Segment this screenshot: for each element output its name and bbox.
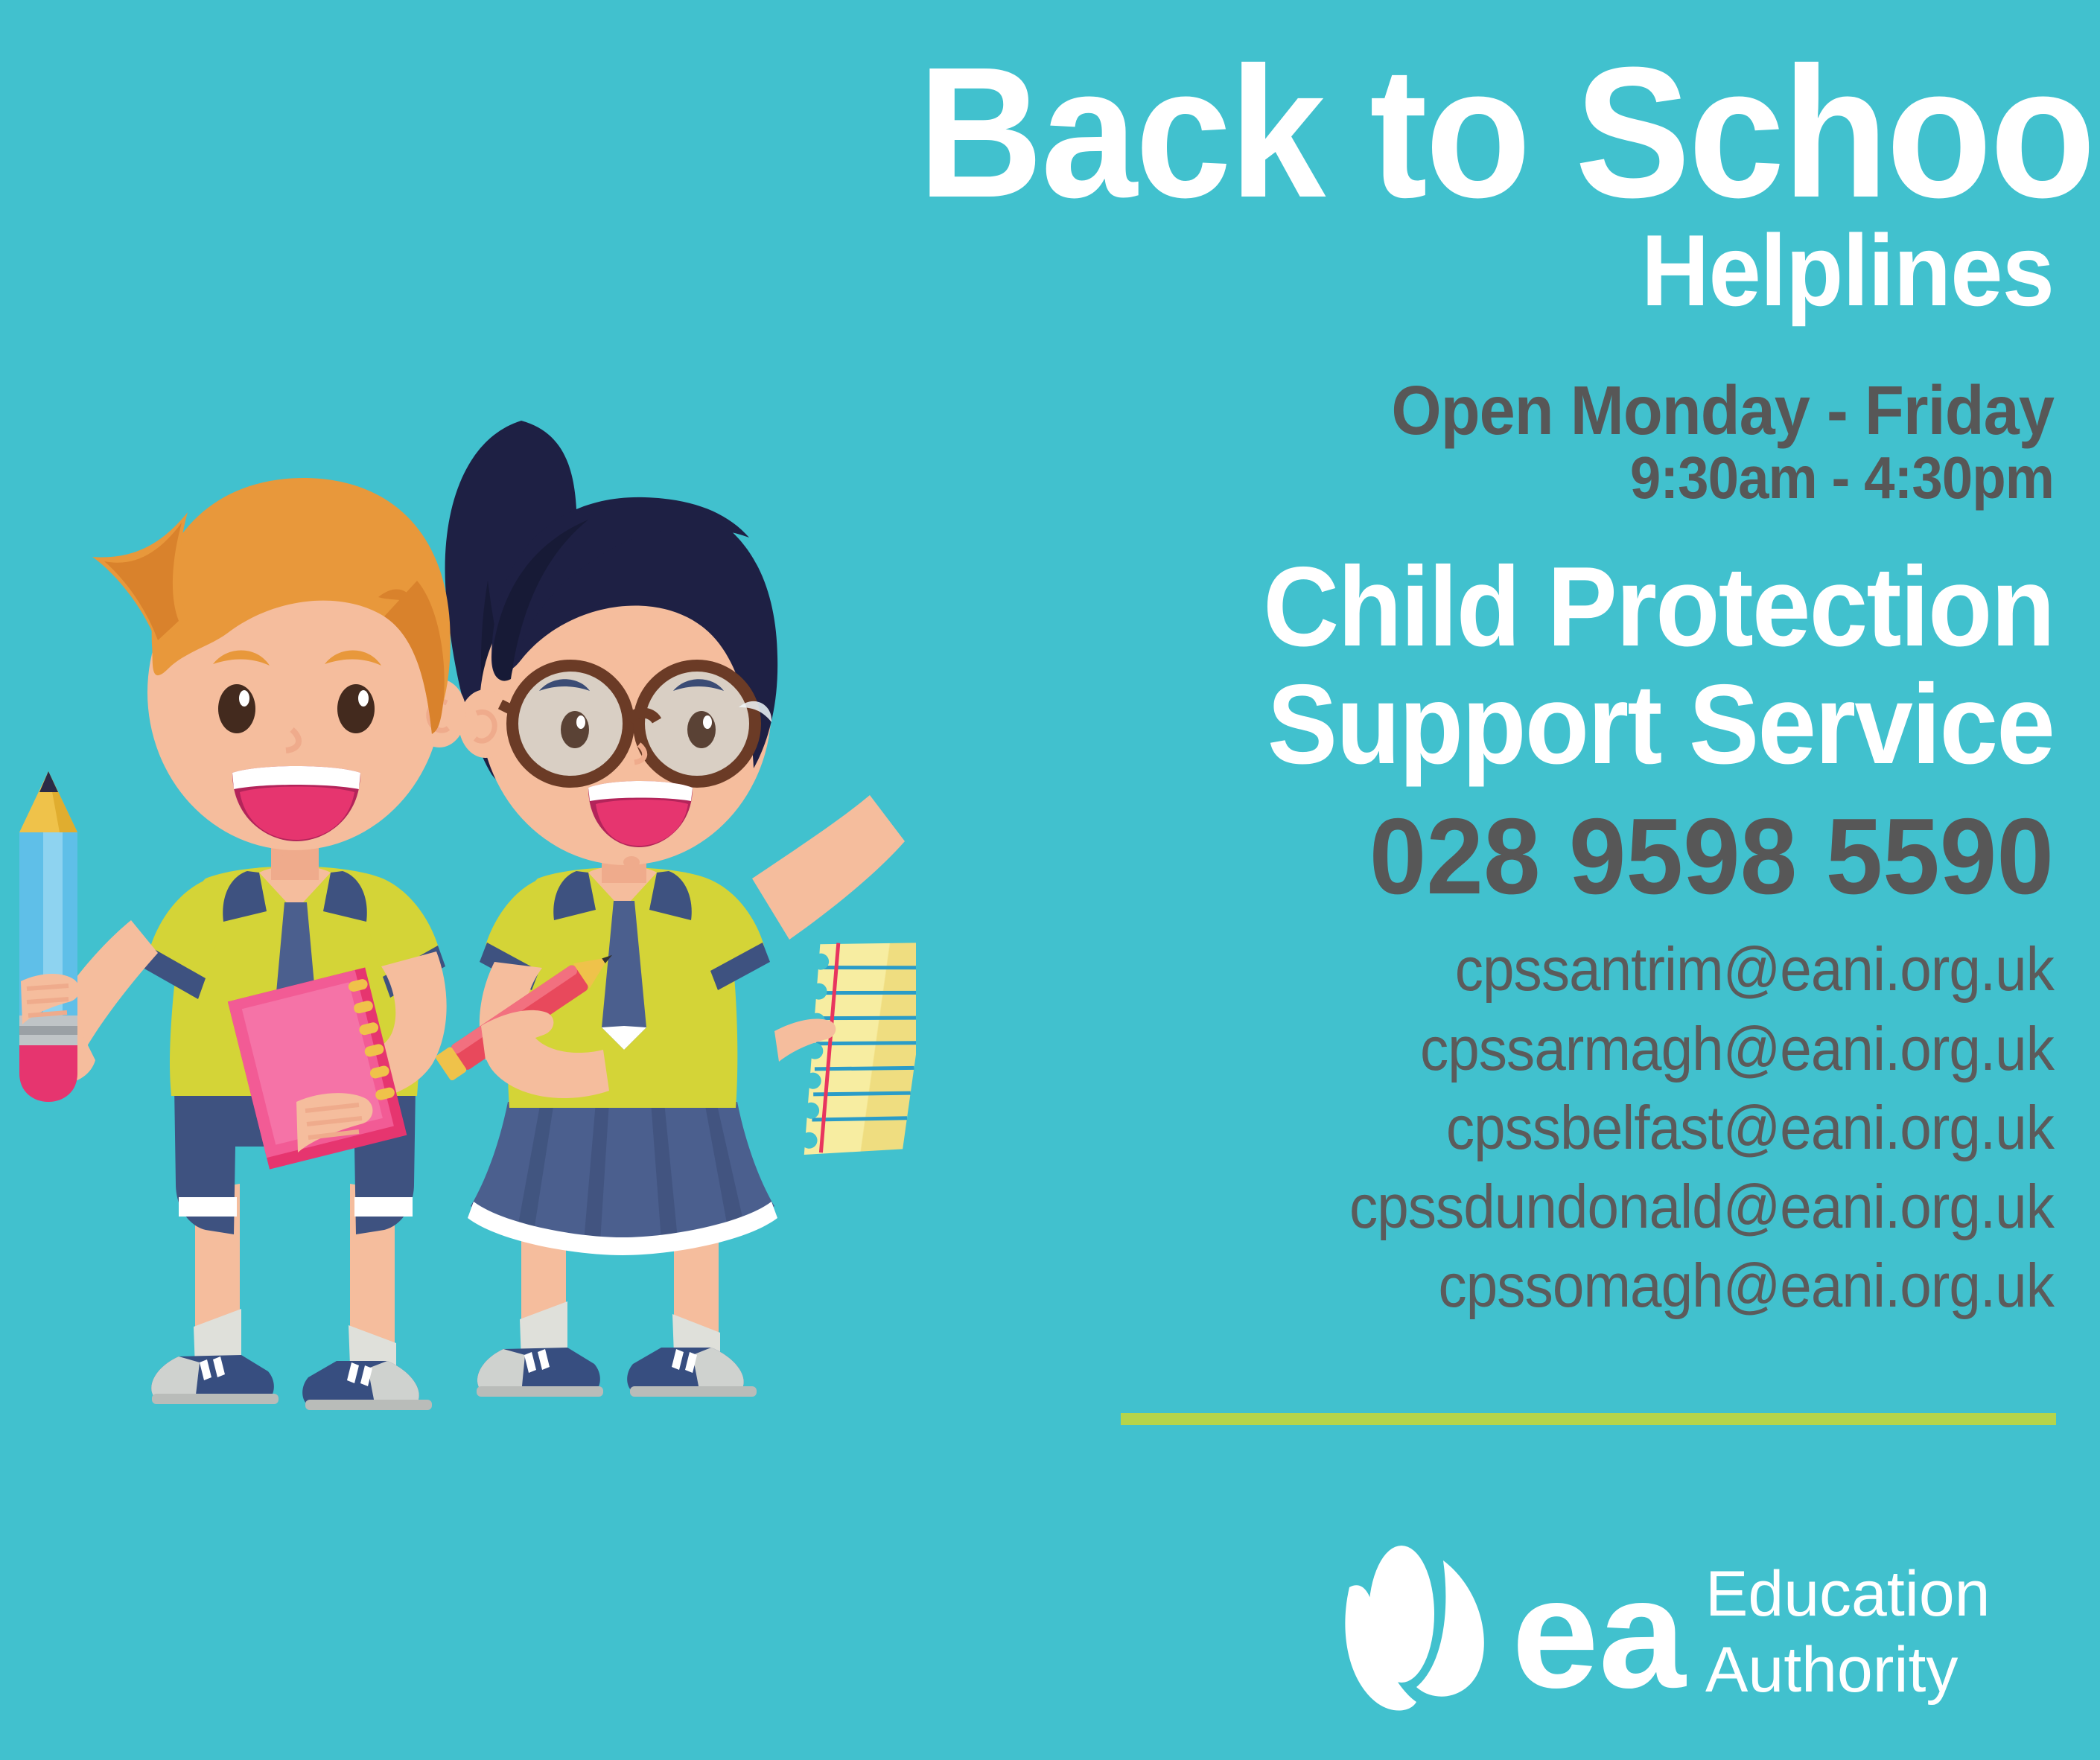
service-name-line1: Child Protection — [918, 548, 2054, 666]
school-children-illustration — [0, 357, 916, 1437]
opening-days: Open Monday - Friday — [918, 374, 2054, 447]
email-address-omagh[interactable]: cpssomagh@eani.org.uk — [930, 1246, 2054, 1325]
blue-pencil — [19, 771, 77, 1102]
service-name: Child Protection Support Service — [918, 548, 2054, 783]
ea-wordmark-text: ea — [1512, 1546, 1687, 1721]
page-title: Back to School — [918, 0, 2054, 220]
email-address-belfast[interactable]: cpssbelfast@eani.org.uk — [930, 1088, 2054, 1167]
text-column: Back to School Helplines Open Monday - F… — [833, 0, 2054, 1325]
ea-name-line2: Authority — [1705, 1634, 1958, 1706]
email-address-armagh[interactable]: cpssarmagh@eani.org.uk — [930, 1010, 2054, 1088]
email-address-antrim[interactable]: cpssantrim@eani.org.uk — [930, 930, 2054, 1009]
opening-times: 9:30am - 4:30pm — [918, 447, 2054, 509]
email-list: cpssantrim@eani.org.uk cpssarmagh@eani.o… — [930, 930, 2054, 1325]
ea-logo: ea Education Authority — [1333, 1534, 2048, 1727]
boy-figure — [33, 478, 466, 1410]
email-address-dundonald[interactable]: cpssdundonald@eani.org.uk — [930, 1167, 2054, 1246]
phone-number[interactable]: 028 9598 5590 — [894, 803, 2054, 911]
poster-canvas: Back to School Helplines Open Monday - F… — [0, 0, 2100, 1760]
service-name-line2: Support Service — [918, 666, 2054, 783]
page-subtitle: Helplines — [918, 220, 2054, 321]
divider-rule — [1121, 1413, 2056, 1425]
ea-leaf-mark — [1345, 1546, 1483, 1711]
opening-hours: Open Monday - Friday 9:30am - 4:30pm — [918, 374, 2054, 510]
ea-name-line1: Education — [1705, 1558, 1991, 1630]
